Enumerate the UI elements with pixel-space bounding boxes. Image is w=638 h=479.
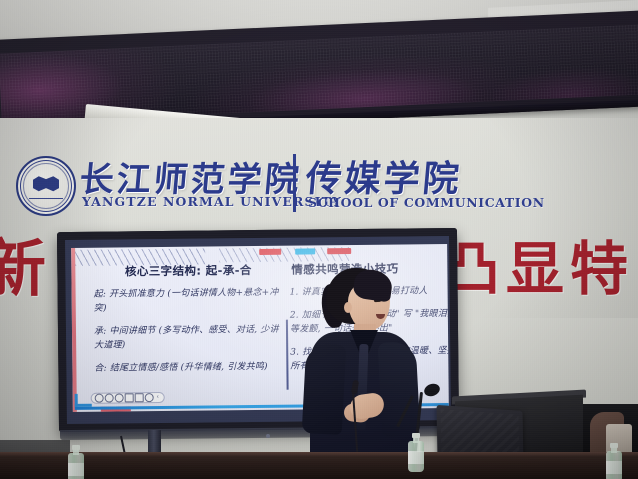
settings-icon[interactable] (104, 394, 113, 403)
bottle-cap (412, 433, 420, 438)
red-banner-left-text: 新 (0, 238, 46, 300)
lecture-hall-photo: 新 凸显特 长江师范学院 YANGTZE NORMAL UNIVERSITY 传… (0, 0, 638, 479)
slide-paragraph-left-2: 承: 中间讲细节 (多写动作、感受、对话, 少讲大道理) (94, 324, 284, 354)
water-bottle-2 (408, 432, 424, 472)
slide-paragraph-left-3: 合: 结尾立情感/感悟 (升华情绪, 引发共鸣) (94, 360, 284, 376)
slide-corner-bracket (75, 394, 92, 407)
keyboard-icon[interactable] (134, 393, 143, 402)
slide-heading-left: 核心三字结构: 起-承-合 (93, 262, 283, 280)
presenter-shoulder-left (302, 343, 347, 435)
sign-divider (293, 154, 296, 212)
fullscreen-icon[interactable] (124, 393, 133, 402)
slide-annotation-toolbar[interactable]: ‹ (91, 392, 165, 404)
water-bottle-1 (68, 444, 84, 479)
slide-vertical-divider (286, 320, 289, 390)
presenter-ear (344, 302, 352, 313)
slide-left-strip (71, 248, 77, 412)
pen-icon[interactable] (114, 393, 123, 402)
slide-paragraph-left-1: 起: 开头抓准意力 (一句话讲情人物+悬念+冲突) (94, 287, 284, 317)
screen-ir-sensor-icon (266, 434, 270, 438)
front-table (0, 452, 638, 479)
red-banner-right-text: 凸显特 (442, 240, 634, 298)
university-crest-icon (16, 156, 76, 216)
bottle-cap (72, 445, 80, 450)
presenter-person (296, 268, 426, 479)
sign-school-english: SCHOOL OF COMMUNICATION (308, 195, 545, 210)
minus-icon[interactable] (144, 393, 153, 402)
bottle-label (408, 451, 424, 464)
collapse-icon[interactable]: ‹ (154, 394, 161, 401)
bottle-cap (610, 443, 618, 448)
undo-icon[interactable] (94, 394, 103, 403)
bottle-label (68, 463, 84, 476)
slide-column-left: 核心三字结构: 起-承-合 起: 开头抓准意力 (一句话讲情人物+悬念+冲突) … (93, 246, 284, 377)
bottle-label (606, 461, 622, 474)
school-wall-sign: 长江师范学院 YANGTZE NORMAL UNIVERSITY 传媒学院 SC… (8, 150, 498, 222)
water-bottle-3 (606, 442, 622, 479)
front-table-edge (0, 452, 638, 456)
crest-inner-ring (23, 163, 69, 209)
